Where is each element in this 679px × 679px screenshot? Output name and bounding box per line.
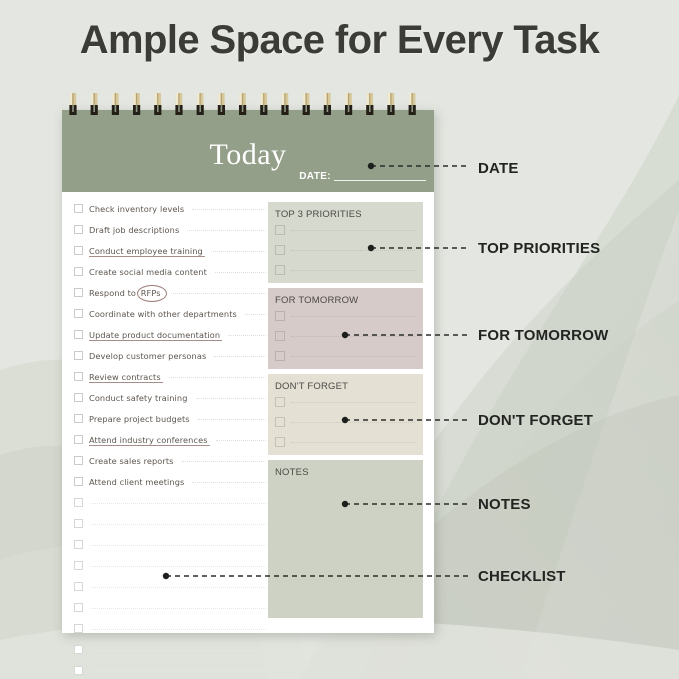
checklist-row[interactable]: Coordinate with other departments bbox=[74, 303, 266, 324]
notepad-title: Today bbox=[62, 138, 434, 172]
write-line[interactable] bbox=[169, 377, 266, 378]
panel-title: NOTES bbox=[268, 460, 423, 478]
checklist-row-blank[interactable] bbox=[74, 576, 266, 597]
date-label: DATE: bbox=[299, 172, 331, 182]
write-line[interactable] bbox=[192, 482, 266, 483]
checklist-row[interactable]: Conduct safety training bbox=[74, 387, 266, 408]
checkbox-icon[interactable] bbox=[74, 435, 83, 444]
checklist[interactable]: Check inventory levelsDraft job descript… bbox=[74, 198, 266, 679]
panel-row[interactable] bbox=[268, 240, 423, 260]
panel-row[interactable] bbox=[268, 326, 423, 346]
panel-for-tomorrow[interactable]: FOR TOMORROW bbox=[268, 288, 423, 369]
panel-write-line[interactable] bbox=[291, 316, 415, 317]
checklist-row[interactable]: Respond to RFPs bbox=[74, 282, 266, 303]
callout-label-top-priorities: TOP PRIORITIES bbox=[478, 240, 600, 257]
checkbox-icon[interactable] bbox=[74, 645, 83, 654]
checklist-item-label: Check inventory levels bbox=[89, 204, 184, 214]
write-line[interactable] bbox=[91, 566, 266, 567]
panel-checkbox[interactable] bbox=[275, 417, 285, 427]
callout-label-for-tomorrow: FOR TOMORROW bbox=[478, 327, 608, 344]
callout-label-checklist: CHECKLIST bbox=[478, 568, 566, 585]
checklist-item-label: Respond to RFPs bbox=[89, 288, 163, 298]
checklist-row[interactable]: Create social media content bbox=[74, 261, 266, 282]
checklist-item-label: Draft job descriptions bbox=[89, 225, 179, 235]
panel-checkbox[interactable] bbox=[275, 437, 285, 447]
write-line[interactable] bbox=[196, 398, 267, 399]
checkbox-icon[interactable] bbox=[74, 498, 83, 507]
write-line[interactable] bbox=[245, 314, 266, 315]
checklist-row[interactable]: Attend industry conferences bbox=[74, 429, 266, 450]
checklist-row-blank[interactable] bbox=[74, 534, 266, 555]
panel-notes[interactable]: NOTES bbox=[268, 460, 423, 618]
checklist-row-blank[interactable] bbox=[74, 618, 266, 639]
checkbox-icon[interactable] bbox=[74, 246, 83, 255]
checkbox-icon[interactable] bbox=[74, 477, 83, 486]
checklist-row[interactable]: Draft job descriptions bbox=[74, 219, 266, 240]
panel-row[interactable] bbox=[268, 220, 423, 240]
panel-write-line[interactable] bbox=[291, 230, 415, 231]
callout-label-date: DATE bbox=[478, 160, 519, 177]
panel-write-line[interactable] bbox=[291, 442, 415, 443]
checklist-item-label: Prepare project budgets bbox=[89, 414, 190, 424]
checklist-row[interactable]: Create sales reports bbox=[74, 450, 266, 471]
checklist-item-label: Create sales reports bbox=[89, 456, 174, 466]
write-line[interactable] bbox=[91, 650, 266, 651]
panel-write-line[interactable] bbox=[291, 336, 415, 337]
checklist-row-blank[interactable] bbox=[74, 639, 266, 660]
panel-title: DON'T FORGET bbox=[268, 374, 423, 392]
panel-write-line[interactable] bbox=[291, 270, 415, 271]
write-line[interactable] bbox=[198, 419, 266, 420]
write-line[interactable] bbox=[211, 251, 266, 252]
panel-checkbox[interactable] bbox=[275, 311, 285, 321]
checklist-row[interactable]: Update product documentation bbox=[74, 324, 266, 345]
panel-title: FOR TOMORROW bbox=[268, 288, 423, 306]
date-field[interactable]: DATE: bbox=[299, 172, 426, 182]
notepad: Today DATE: Check inventory levelsDraft … bbox=[62, 110, 434, 633]
checklist-row[interactable]: Develop customer personas bbox=[74, 345, 266, 366]
checkbox-icon[interactable] bbox=[74, 582, 83, 591]
panel-row[interactable] bbox=[268, 346, 423, 366]
callout-label-dont-forget: DON'T FORGET bbox=[478, 412, 593, 429]
write-line[interactable] bbox=[192, 209, 266, 210]
checklist-row-blank[interactable] bbox=[74, 492, 266, 513]
checkbox-icon[interactable] bbox=[74, 330, 83, 339]
checkbox-icon[interactable] bbox=[74, 414, 83, 423]
checkbox-icon[interactable] bbox=[74, 666, 83, 675]
checkbox-icon[interactable] bbox=[74, 288, 83, 297]
checkbox-icon[interactable] bbox=[74, 561, 83, 570]
panel-write-line[interactable] bbox=[291, 402, 415, 403]
checkbox-icon[interactable] bbox=[74, 393, 83, 402]
panel-checkbox[interactable] bbox=[275, 225, 285, 235]
write-line[interactable] bbox=[228, 335, 266, 336]
checkbox-icon[interactable] bbox=[74, 519, 83, 528]
write-line[interactable] bbox=[91, 587, 266, 588]
checkbox-icon[interactable] bbox=[74, 267, 83, 276]
write-line[interactable] bbox=[216, 440, 266, 441]
checklist-row[interactable]: Prepare project budgets bbox=[74, 408, 266, 429]
panel-checkbox[interactable] bbox=[275, 397, 285, 407]
circled-annotation: RFPs bbox=[139, 288, 163, 298]
checkbox-icon[interactable] bbox=[74, 624, 83, 633]
checklist-item-label: Attend industry conferences bbox=[89, 435, 208, 445]
checkbox-icon[interactable] bbox=[74, 204, 83, 213]
checklist-row[interactable]: Check inventory levels bbox=[74, 198, 266, 219]
write-line[interactable] bbox=[171, 293, 266, 294]
page-title: Ample Space for Every Task bbox=[0, 18, 679, 63]
panel-row[interactable] bbox=[268, 392, 423, 412]
checklist-item-label: Attend client meetings bbox=[89, 477, 184, 487]
panel-write-line[interactable] bbox=[291, 356, 415, 357]
checkbox-icon[interactable] bbox=[74, 351, 83, 360]
write-line[interactable] bbox=[91, 608, 266, 609]
panel-checkbox[interactable] bbox=[275, 265, 285, 275]
checklist-item-label: Coordinate with other departments bbox=[89, 309, 237, 319]
panel-row[interactable] bbox=[268, 306, 423, 326]
date-write-line[interactable] bbox=[334, 180, 426, 181]
checkbox-icon[interactable] bbox=[74, 540, 83, 549]
checklist-item-label: Create social media content bbox=[89, 267, 207, 277]
write-line[interactable] bbox=[215, 272, 266, 273]
panel-dont-forget[interactable]: DON'T FORGET bbox=[268, 374, 423, 455]
panel-row[interactable] bbox=[268, 412, 423, 432]
panel-row[interactable] bbox=[268, 260, 423, 280]
checklist-item-label: Conduct safety training bbox=[89, 393, 188, 403]
checklist-row-blank[interactable] bbox=[74, 597, 266, 618]
checklist-row-blank[interactable] bbox=[74, 555, 266, 576]
panel-write-line[interactable] bbox=[291, 422, 415, 423]
panel-row[interactable] bbox=[268, 432, 423, 452]
write-line[interactable] bbox=[214, 356, 266, 357]
checkbox-icon[interactable] bbox=[74, 225, 83, 234]
checklist-row[interactable]: Attend client meetings bbox=[74, 471, 266, 492]
panel-checkbox[interactable] bbox=[275, 351, 285, 361]
callout-label-notes: NOTES bbox=[478, 496, 531, 513]
write-line[interactable] bbox=[187, 230, 266, 231]
checkbox-icon[interactable] bbox=[74, 456, 83, 465]
panel-top-priorities[interactable]: TOP 3 PRIORITIES bbox=[268, 202, 423, 283]
checklist-row[interactable]: Conduct employee training bbox=[74, 240, 266, 261]
write-line[interactable] bbox=[91, 671, 266, 672]
checklist-item-label: Update product documentation bbox=[89, 330, 220, 340]
write-line[interactable] bbox=[91, 629, 266, 630]
panel-title: TOP 3 PRIORITIES bbox=[268, 202, 423, 220]
panel-checkbox[interactable] bbox=[275, 245, 285, 255]
checklist-item-label: Review contracts bbox=[89, 372, 161, 382]
notepad-header: Today DATE: bbox=[62, 110, 434, 192]
checkbox-icon[interactable] bbox=[74, 309, 83, 318]
panel-write-line[interactable] bbox=[291, 250, 415, 251]
checklist-row[interactable]: Review contracts bbox=[74, 366, 266, 387]
write-line[interactable] bbox=[91, 524, 266, 525]
checklist-row-blank[interactable] bbox=[74, 513, 266, 534]
checkbox-icon[interactable] bbox=[74, 372, 83, 381]
panel-checkbox[interactable] bbox=[275, 331, 285, 341]
checklist-item-label: Conduct employee training bbox=[89, 246, 203, 256]
write-line[interactable] bbox=[91, 545, 266, 546]
checklist-item-label: Develop customer personas bbox=[89, 351, 206, 361]
spiral-binding-icon bbox=[62, 92, 434, 122]
checklist-row-blank[interactable] bbox=[74, 660, 266, 679]
write-line[interactable] bbox=[91, 503, 266, 504]
checkbox-icon[interactable] bbox=[74, 603, 83, 612]
write-line[interactable] bbox=[182, 461, 266, 462]
